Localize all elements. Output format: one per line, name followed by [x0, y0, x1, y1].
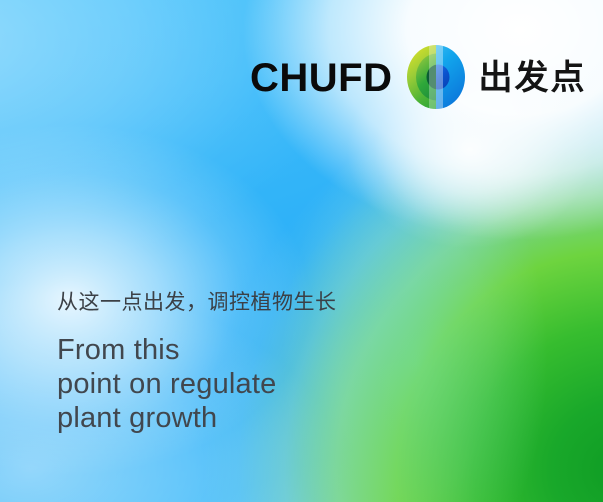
logo-lockup: CHUFD	[250, 44, 586, 110]
chufd-circle-mark-icon	[406, 44, 466, 110]
logo-wordmark: CHUFD	[250, 58, 392, 98]
logo-cn-name: 出发点	[478, 61, 586, 95]
brand-slide: CHUFD	[0, 0, 603, 502]
tagline-english-line-1: From this	[57, 333, 276, 367]
tagline-english-line-3: plant growth	[57, 401, 276, 435]
tagline-english-line-2: point on regulate	[57, 367, 276, 401]
tagline-chinese: 从这一点出发，调控植物生长	[57, 286, 337, 316]
tagline-english: From this point on regulate plant growth	[57, 333, 276, 435]
